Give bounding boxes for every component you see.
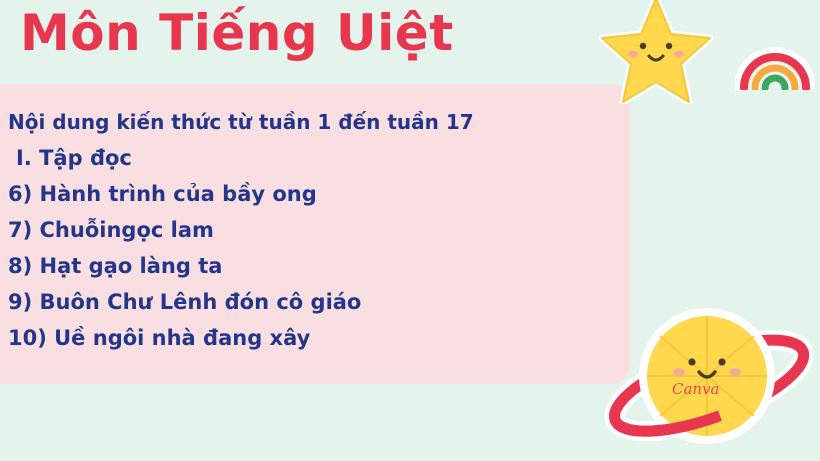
list-item: 6) Hành trình của bầy ong (8, 176, 608, 212)
list-item: 9) Buôn Chư Lênh đón cô giáo (8, 284, 608, 320)
canva-watermark: Canva (672, 380, 720, 398)
list-item: 7) Chuỗingọc lam (8, 212, 608, 248)
list-item: I. Tập đọc (8, 140, 608, 176)
rainbow-icon (735, 38, 815, 90)
content-list: Nội dung kiến thức từ tuần 1 đến tuần 17… (8, 104, 608, 356)
list-item: 8) Hạt gạo làng ta (8, 248, 608, 284)
star-icon (596, 0, 716, 104)
list-item: Nội dung kiến thức từ tuần 1 đến tuần 17 (8, 104, 608, 140)
page-title: Môn Tiếng Uiệt (20, 2, 454, 64)
slide-canvas: Môn Tiếng Uiệt Nội dung kiến thức từ tuầ… (0, 0, 820, 461)
list-item: 10) Uề ngôi nhà đang xây (8, 320, 608, 356)
